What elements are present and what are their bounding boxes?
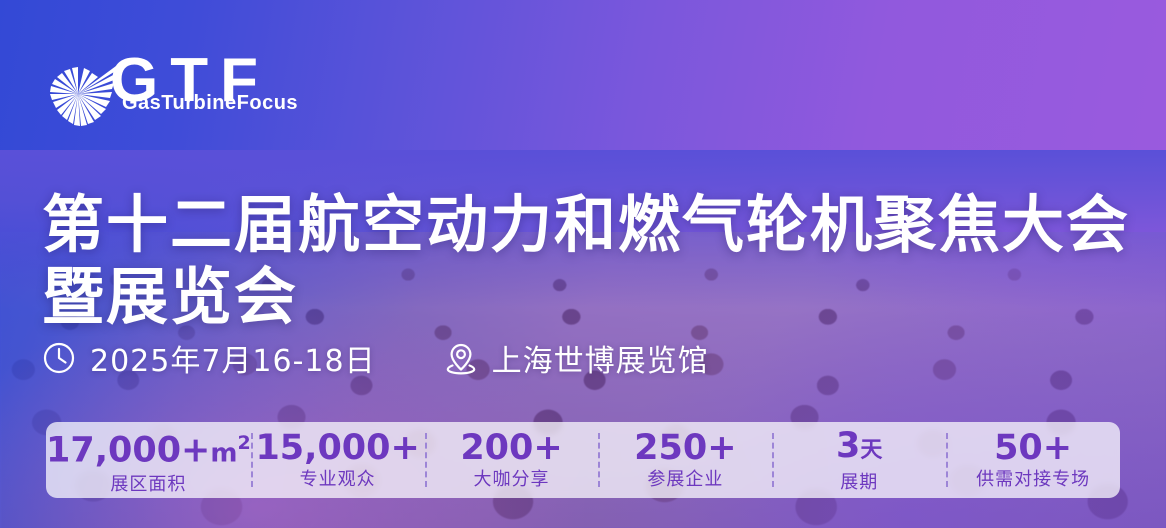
stat-label: 供需对接专场 — [976, 469, 1090, 491]
event-venue: 上海世博展览馆 — [444, 336, 709, 380]
event-date-text: 2025年7月16-18日 — [90, 336, 376, 380]
logo-full-name: GasTurbineFocus — [122, 92, 298, 115]
title-line-1: 第十二届航空动力和燃气轮机聚焦大会 — [42, 188, 1130, 261]
stat-speakers: 200+ 大咖分享 — [425, 422, 599, 498]
page-title: 第十二届航空动力和燃气轮机聚焦大会 暨展览会 — [42, 189, 1132, 333]
location-pin-icon — [444, 341, 478, 375]
stat-unit: m — [210, 438, 237, 468]
stat-value: 50+ — [994, 429, 1072, 467]
gtf-logo[interactable]: GTF GasTurbineFocus — [44, 56, 284, 134]
conference-banner: GTF GasTurbineFocus 第十二届航空动力和燃气轮机聚焦大会 暨展… — [0, 0, 1166, 528]
stats-panel: 17,000+m2 展区面积 15,000+ 专业观众 200+ 大咖分享 25… — [46, 422, 1120, 498]
stat-professional-visitors: 15,000+ 专业观众 — [251, 422, 425, 498]
event-venue-text: 上海世博展览馆 — [492, 336, 709, 380]
stat-label: 展期 — [840, 472, 878, 494]
event-meta: 2025年7月16-18日 上海世博展览馆 — [42, 336, 709, 380]
stat-value: 3天 — [836, 427, 882, 470]
stat-label: 专业观众 — [300, 469, 376, 491]
stat-value: 15,000+ — [255, 429, 419, 467]
stat-matchmaking-sessions: 50+ 供需对接专场 — [946, 422, 1120, 498]
stat-exhibition-area: 17,000+m2 展区面积 — [46, 422, 251, 498]
stat-label: 大咖分享 — [474, 469, 550, 491]
stat-value: 200+ — [460, 429, 562, 467]
clock-icon — [42, 341, 76, 375]
stat-cn-unit: 天 — [860, 438, 882, 463]
stat-exhibitors: 250+ 参展企业 — [598, 422, 772, 498]
turbine-starburst-icon — [44, 58, 118, 132]
stat-label: 展区面积 — [110, 474, 186, 496]
stat-unit-superscript: 2 — [237, 432, 250, 454]
stat-value: 17,000+m2 — [46, 424, 251, 473]
stat-value: 250+ — [634, 429, 736, 467]
stat-duration: 3天 展期 — [772, 422, 946, 498]
event-date: 2025年7月16-18日 — [42, 336, 376, 380]
title-line-2: 暨展览会 — [42, 261, 1132, 333]
stat-label: 参展企业 — [647, 469, 723, 491]
banner-content: GTF GasTurbineFocus 第十二届航空动力和燃气轮机聚焦大会 暨展… — [0, 0, 1166, 528]
